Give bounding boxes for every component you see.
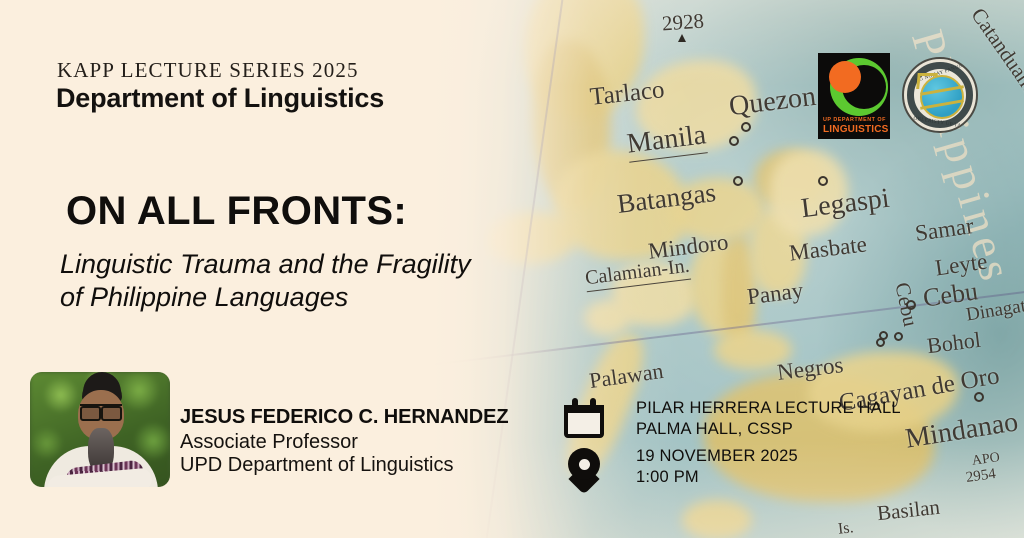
logo-orange-circle <box>829 61 861 93</box>
speaker-role: Associate Professor <box>180 431 358 454</box>
speaker-name: JESUS FEDERICO C. HERNANDEZ <box>180 406 508 429</box>
event-time: 1:00 PM <box>636 467 798 488</box>
venue-text: PILAR HERRERA LECTURE HALL PALMA HALL, C… <box>636 398 901 440</box>
department-name: Department of Linguistics <box>56 83 384 114</box>
map-city-marker <box>974 392 984 402</box>
map-city-marker <box>906 300 916 310</box>
lecture-subtitle: Linguistic Trauma and the Fragility of P… <box>60 248 500 314</box>
venue-row: PILAR HERRERA LECTURE HALL PALMA HALL, C… <box>560 398 960 446</box>
map-city-marker <box>729 136 739 146</box>
event-poster: Philippines 2928TarlacoQuezonManilaBatan… <box>0 0 1024 538</box>
map-city-marker <box>733 176 743 186</box>
map-label: 2928 <box>661 9 705 37</box>
seal-up-monogram <box>916 73 938 89</box>
speaker-photo <box>30 372 170 487</box>
event-details-block: PILAR HERRERA LECTURE HALL PALMA HALL, C… <box>560 398 960 494</box>
schedule-row: 19 NOVEMBER 2025 1:00 PM <box>560 446 960 494</box>
map-city-marker <box>894 332 903 341</box>
map-pin-icon <box>568 448 600 490</box>
logo-text-line-2: LINGUISTICS <box>823 124 889 135</box>
series-kicker: KAPP LECTURE SERIES 2025 <box>57 58 359 83</box>
event-date: 19 NOVEMBER 2025 <box>636 447 798 465</box>
logo-text-line-1: UP DEPARTMENT OF <box>823 117 886 123</box>
schedule-text: 19 NOVEMBER 2025 1:00 PM <box>636 446 798 488</box>
up-linguistics-logo: UP DEPARTMENT OF LINGUISTICS <box>818 53 890 139</box>
map-city-marker <box>818 176 828 186</box>
speaker-affiliation: UPD Department of Linguistics <box>180 454 453 477</box>
map-city-marker <box>741 122 751 132</box>
calendar-header-bar <box>564 405 604 413</box>
pin-hole <box>579 459 590 470</box>
up-university-seal: NG NGHAY PANUNAN AT OBLERISTY UP TAGBILA… <box>902 57 978 133</box>
logo-group: UP DEPARTMENT OF LINGUISTICS NG NGHAY PA… <box>818 53 974 143</box>
venue-line-2: PALMA HALL, CSSP <box>636 419 901 440</box>
lecture-title: ON ALL FRONTS: <box>66 189 407 234</box>
venue-line-1: PILAR HERRERA LECTURE HALL <box>636 399 901 417</box>
map-city-marker <box>876 338 885 347</box>
calendar-icon <box>564 398 604 438</box>
map-peak-marker <box>678 34 686 42</box>
photo-glasses <box>80 404 122 415</box>
map-label: Is. <box>837 519 854 538</box>
